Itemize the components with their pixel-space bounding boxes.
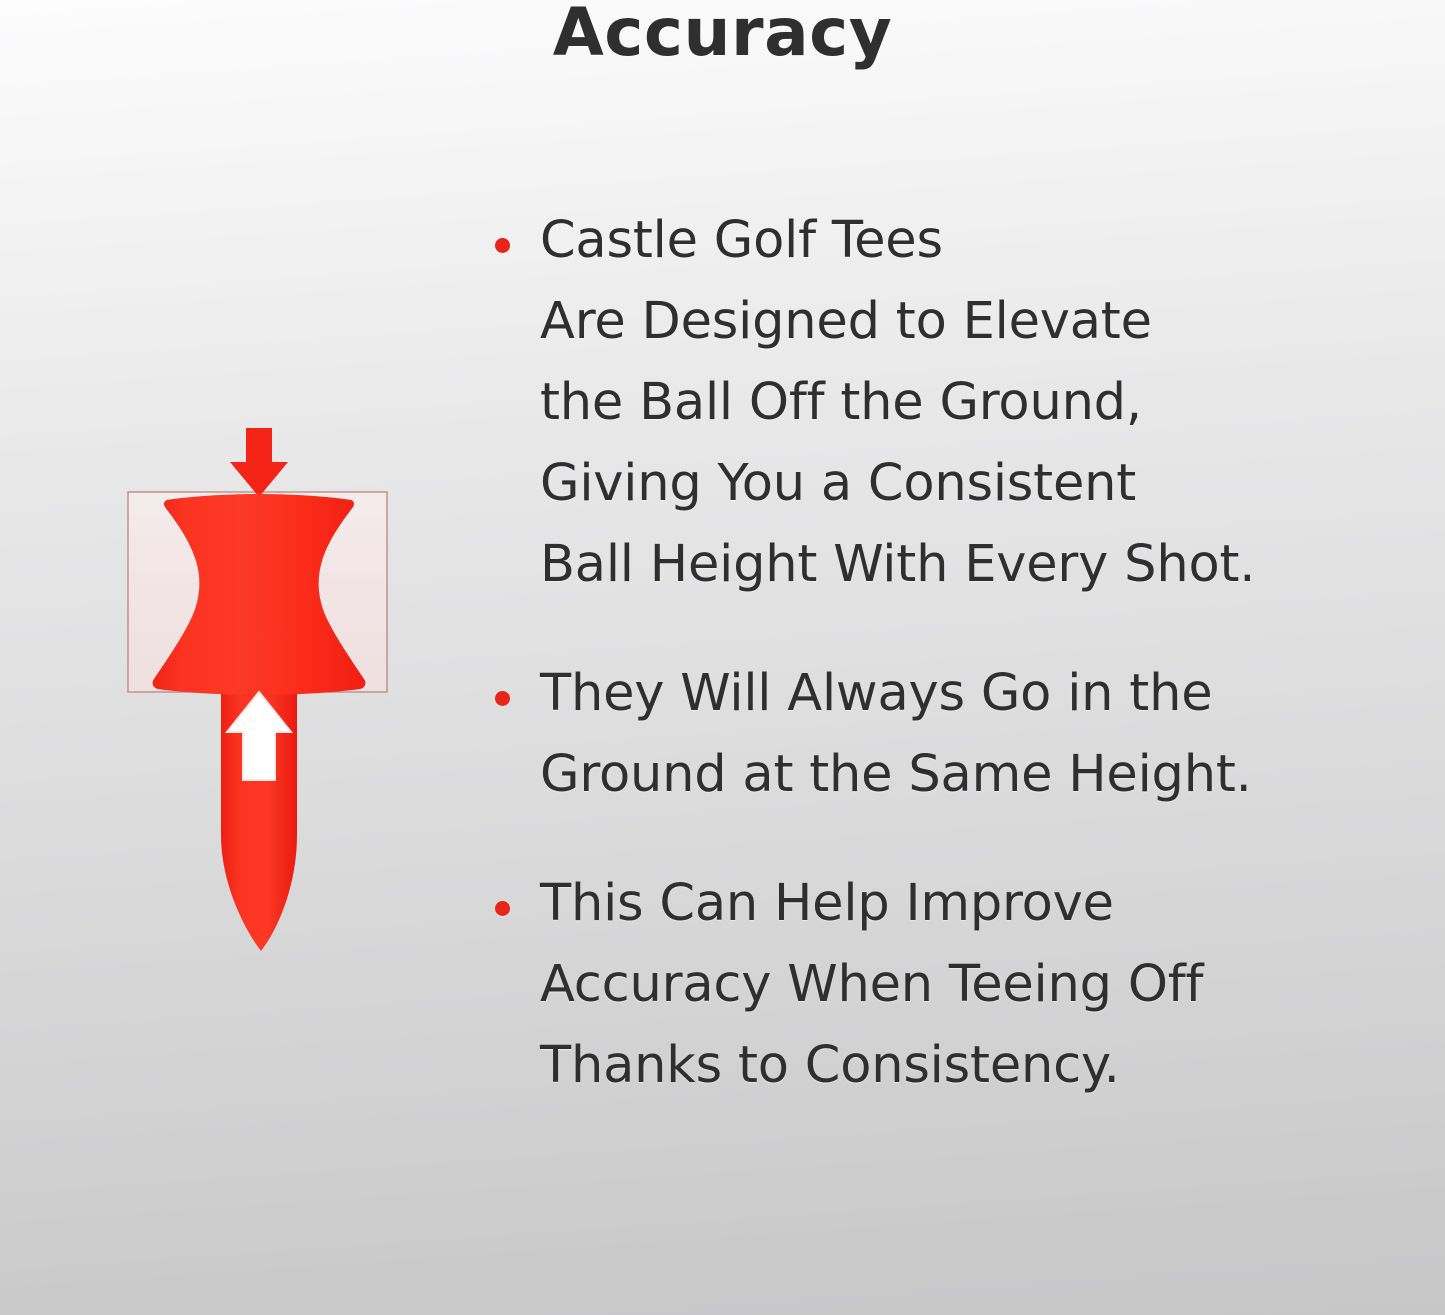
list-item: They Will Always Go in the Ground at the… — [495, 653, 1395, 815]
bullet-text: They Will Always Go in the Ground at the… — [540, 653, 1395, 815]
bullet-line: Thanks to Consistency. — [540, 1025, 1395, 1106]
bullet-line: the Ball Off the Ground, — [540, 362, 1395, 443]
list-gap — [495, 815, 1395, 863]
bullet-text: Castle Golf Tees Are Designed to Elevate… — [540, 200, 1395, 605]
bullet-marker — [495, 653, 540, 706]
feature-bullet-list: Castle Golf Tees Are Designed to Elevate… — [495, 200, 1395, 1106]
bullet-line: This Can Help Improve — [540, 863, 1395, 944]
red-dot-icon — [495, 901, 510, 916]
list-item: This Can Help Improve Accuracy When Teei… — [495, 863, 1395, 1106]
bullet-text: This Can Help Improve Accuracy When Teei… — [540, 863, 1395, 1106]
page-title: Accuracy — [0, 0, 1445, 71]
bullet-line: Are Designed to Elevate — [540, 281, 1395, 362]
bullet-line: Castle Golf Tees — [540, 200, 1395, 281]
list-gap — [495, 605, 1395, 653]
bullet-line: Ground at the Same Height. — [540, 734, 1395, 815]
bullet-marker — [495, 200, 540, 253]
tee-diagram-svg — [100, 405, 440, 975]
bullet-line: Giving You a Consistent — [540, 443, 1395, 524]
product-feature-panel: Accuracy — [0, 0, 1445, 1315]
red-dot-icon — [495, 238, 510, 253]
down-arrow-icon — [230, 428, 288, 497]
bullet-marker — [495, 863, 540, 916]
bullet-line: Accuracy When Teeing Off — [540, 944, 1395, 1025]
bullet-line: Ball Height With Every Shot. — [540, 524, 1395, 605]
bullet-line: They Will Always Go in the — [540, 653, 1395, 734]
red-dot-icon — [495, 691, 510, 706]
list-item: Castle Golf Tees Are Designed to Elevate… — [495, 200, 1395, 605]
castle-golf-tee-illustration — [100, 405, 440, 975]
